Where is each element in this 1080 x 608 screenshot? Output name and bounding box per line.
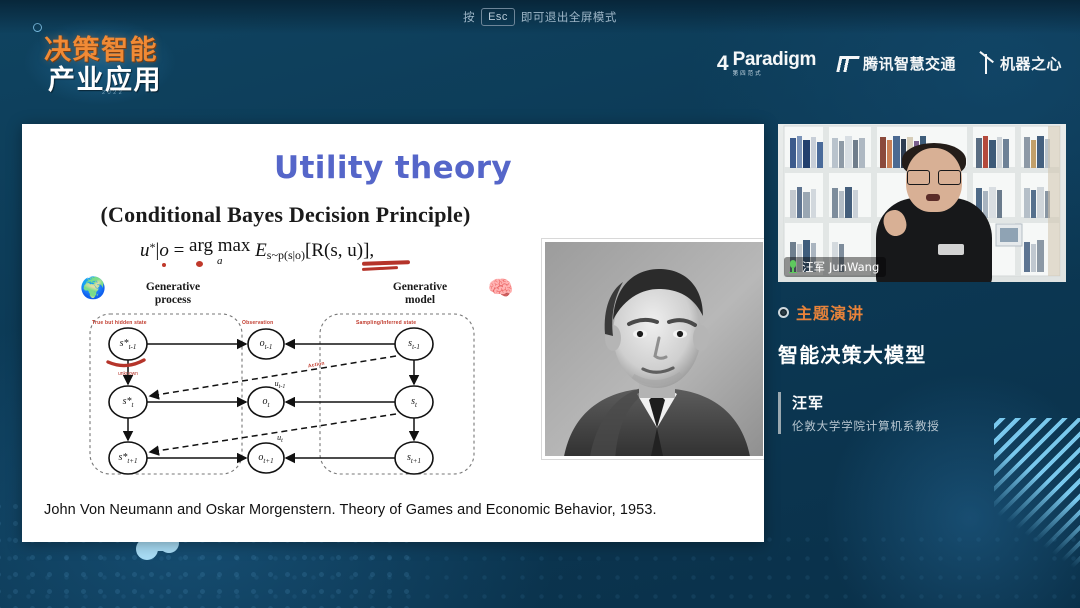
speaker-name: 汪军	[792, 392, 1070, 413]
diagram-left-title: Generativeprocess	[128, 281, 218, 307]
microphone-icon	[788, 260, 798, 274]
hint-prefix-text: 按	[463, 9, 475, 25]
brain-icon: 🧠	[488, 278, 514, 299]
formula-expectation: E	[255, 240, 267, 261]
annotation-underline-2	[362, 266, 398, 271]
esc-key-badge: Esc	[481, 8, 515, 26]
svg-text:ut: ut	[277, 433, 283, 444]
video-speaker-name-cn: 汪军	[802, 259, 825, 275]
diagram-label-observation: Observation	[242, 320, 273, 326]
speaker-video-tile[interactable]: 汪军 JunWang	[778, 124, 1066, 282]
svg-text:unknown: unknown	[118, 371, 138, 377]
formula-argmax-text: arg max	[189, 235, 250, 256]
sponsor-4paradigm: 4 Paradigm 第四范式	[717, 50, 816, 77]
diagram-label-hidden-state: True but hidden state	[92, 320, 147, 326]
event-logo-sub: 2022	[102, 90, 124, 96]
earth-icon: 🌍	[80, 278, 106, 299]
slide-formula: u*|o = arg max a Es~p(s|o)[R(s, u)],	[140, 236, 530, 267]
speaker-role: 伦敦大学学院计算机系教授	[792, 418, 1070, 434]
formula-expectation-sub: s~p(s|o)	[267, 248, 305, 262]
formula-bracket: [R(s, u)],	[305, 240, 374, 261]
session-kicker: 主题演讲	[778, 300, 1070, 324]
session-title: 智能决策大模型	[778, 339, 1070, 368]
formula-equals: =	[174, 240, 185, 261]
annotation-dot-2	[196, 261, 203, 267]
slide-subtitle: (Conditional Bayes Decision Principle)	[22, 202, 549, 228]
hint-suffix-text: 即可退出全屏模式	[521, 9, 617, 25]
sponsor-4paradigm-cn: 第四范式	[733, 69, 816, 77]
video-speaker-name-en: JunWang	[829, 260, 879, 274]
bullet-icon	[778, 307, 789, 318]
jiqizhixin-mark-icon	[978, 54, 995, 74]
presentation-slide[interactable]: Utility theory (Conditional Bayes Decisi…	[22, 124, 764, 542]
formula-lhs-o: o	[159, 240, 169, 261]
speaker-mouth	[926, 194, 940, 201]
diagram-label-inferred-state: Sampling/Inferred state	[356, 320, 416, 326]
slide-title: Utility theory	[22, 150, 764, 186]
jacket-logo	[938, 244, 964, 255]
four-paradigm-mark-icon: 4	[717, 54, 728, 74]
sponsor-4paradigm-name: Paradigm	[733, 49, 816, 70]
slide-caption: John Von Neumann and Oskar Morgenstern. …	[44, 500, 724, 520]
stage-background: 按 Esc 即可退出全屏模式 决策智能 产业应用 2022 4 Paradigm…	[0, 0, 1080, 608]
von-neumann-portrait	[542, 239, 764, 459]
glasses-icon	[907, 170, 961, 183]
svg-text:ut-1: ut-1	[275, 379, 286, 390]
video-name-tag: 汪军 JunWang	[784, 257, 886, 277]
sponsor-tencent-name: 腾讯智慧交通	[863, 53, 956, 74]
fullscreen-exit-hint: 按 Esc 即可退出全屏模式	[0, 0, 1080, 34]
generative-process-diagram: s*t-1 s*t s*t+1 ot-1 ot ot+1 st-1 st st+…	[84, 280, 508, 482]
sponsor-tencent: 腾讯智慧交通	[838, 53, 956, 74]
sponsor-jiqizhixin: 机器之心	[978, 53, 1062, 74]
formula-lhs-u: u	[140, 240, 150, 261]
sponsor-logos: 4 Paradigm 第四范式 腾讯智慧交通 机器之心	[717, 50, 1062, 77]
sponsor-jiqizhixin-name: 机器之心	[1000, 53, 1062, 74]
session-kicker-text: 主题演讲	[796, 300, 864, 324]
tencent-mark-icon	[836, 56, 859, 72]
diagonal-stripes-decoration	[994, 418, 1080, 608]
speaker-info: 汪军 伦敦大学学院计算机系教授	[778, 392, 1070, 434]
annotation-dot-1	[162, 263, 166, 267]
diagram-right-title: Generativemodel	[372, 281, 468, 307]
session-info-panel: 主题演讲 智能决策大模型 汪军 伦敦大学学院计算机系教授	[778, 300, 1070, 434]
